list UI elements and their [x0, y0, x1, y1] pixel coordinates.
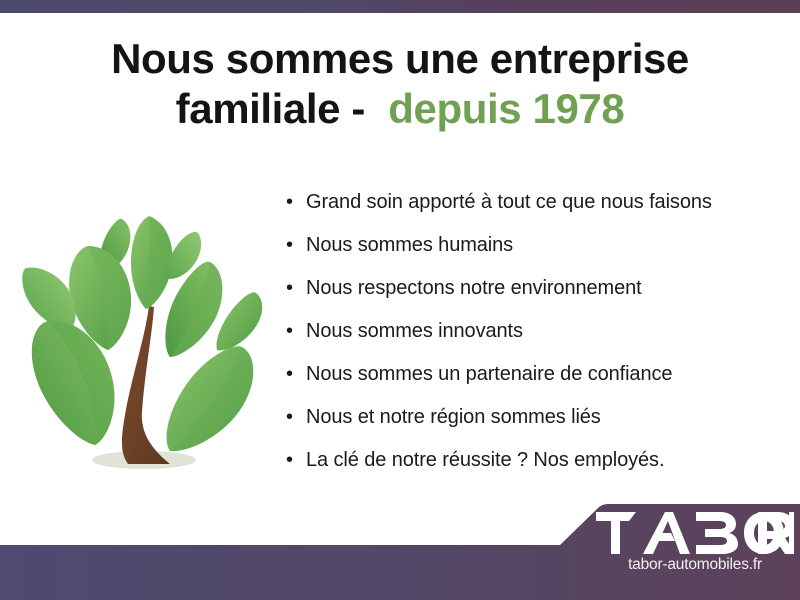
bullet-marker-icon: • — [286, 446, 306, 474]
list-item: • Nous sommes innovants — [286, 317, 786, 360]
bullet-marker-icon: • — [286, 403, 306, 431]
list-item-label: Nous sommes innovants — [306, 317, 786, 345]
list-item-label: Nous et notre région sommes liés — [306, 403, 786, 431]
bullet-marker-icon: • — [286, 360, 306, 388]
list-item: • Nous respectons notre environnement — [286, 274, 786, 317]
title-text-line2-plain: familiale - — [176, 85, 377, 132]
list-item-label: Nous respectons notre environnement — [306, 274, 786, 302]
list-item: • Nous sommes un partenaire de confiance — [286, 360, 786, 403]
top-accent-bar — [0, 0, 800, 13]
tree-illustration — [18, 183, 280, 488]
list-item: • Grand soin apporté à tout ce que nous … — [286, 188, 786, 231]
tree-icon — [18, 183, 280, 488]
list-item-label: Nous sommes un partenaire de confiance — [306, 360, 786, 388]
tree-trunk-icon — [122, 306, 170, 464]
bullet-marker-icon: • — [286, 317, 306, 345]
title-line-1: Nous sommes une entreprise — [40, 34, 760, 84]
page-title: Nous sommes une entreprise familiale - d… — [40, 34, 760, 133]
list-item: • Nous sommes humains — [286, 231, 786, 274]
list-item-label: La clé de notre réussite ? Nos employés. — [306, 446, 786, 474]
title-text-line2-accent: depuis 1978 — [388, 85, 624, 132]
tree-leaves-icon — [22, 216, 262, 451]
list-item: • Nous et notre région sommes liés — [286, 403, 786, 446]
bullet-marker-icon: • — [286, 274, 306, 302]
bullet-marker-icon: • — [286, 188, 306, 216]
slide-canvas: Nous sommes une entreprise familiale - d… — [0, 0, 800, 600]
title-text-line1: Nous sommes une entreprise — [111, 35, 689, 82]
title-line-2: familiale - depuis 1978 — [40, 84, 760, 134]
bullet-list: • Grand soin apporté à tout ce que nous … — [286, 188, 786, 489]
bullet-marker-icon: • — [286, 231, 306, 259]
brand-logo[interactable]: tabor-automobiles.fr — [596, 512, 796, 582]
list-item-label: Nous sommes humains — [306, 231, 786, 259]
logo-url-text: tabor-automobiles.fr — [596, 556, 794, 574]
tabor-wordmark-icon — [596, 512, 794, 554]
list-item: • La clé de notre réussite ? Nos employé… — [286, 446, 786, 489]
list-item-label: Grand soin apporté à tout ce que nous fa… — [306, 188, 786, 216]
